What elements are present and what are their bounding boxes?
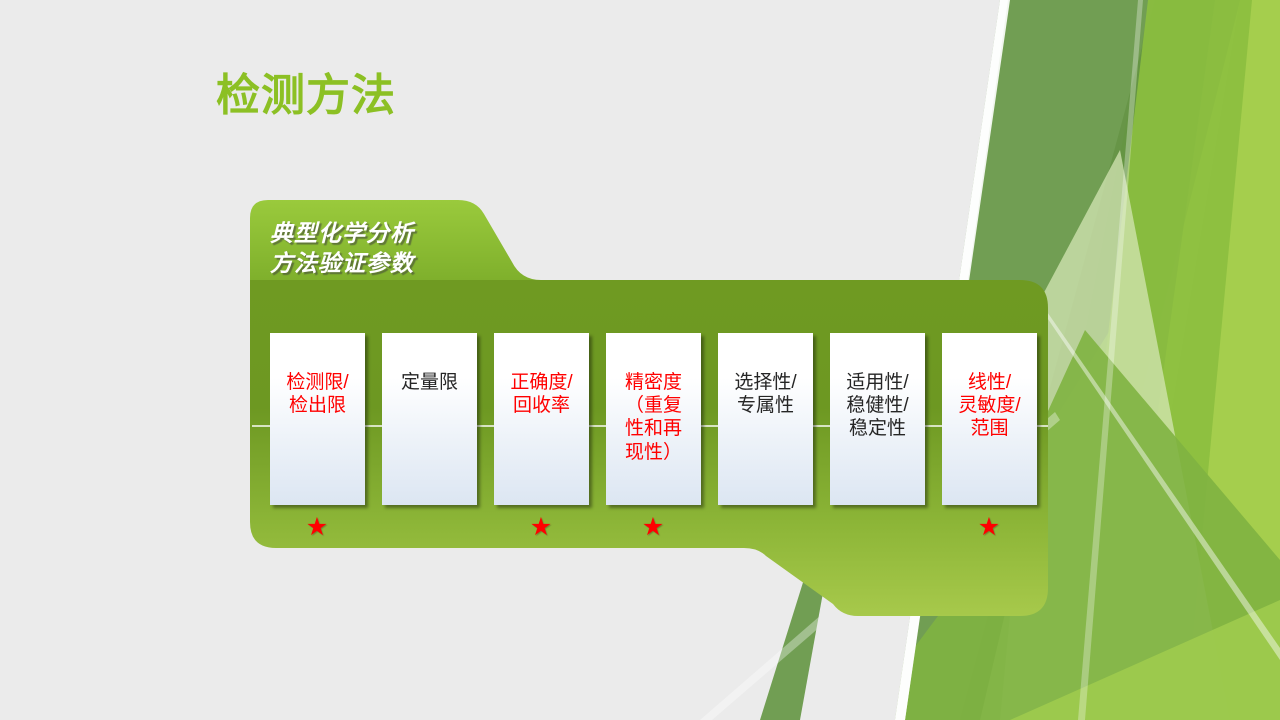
page-title: 检测方法 — [216, 72, 396, 120]
deco-streak-2 — [1078, 0, 1143, 720]
card-label: 精密度 （重复 性和再 现性） — [625, 371, 682, 464]
star-marker-1: ★ — [304, 515, 330, 540]
deco-shape-right-light — [1120, 0, 1280, 720]
star-marker-4: ★ — [640, 515, 666, 540]
card-label: 适用性/ 稳健性/ 稳定性 — [846, 371, 908, 441]
star-marker-3: ★ — [528, 515, 554, 540]
card-item-1[interactable]: 检测限/ 检出限 — [270, 333, 365, 505]
diagram-container: 典型化学分析 方法验证参数 检测限/ 检出限 定量限 正确度/ 回收率 精密度 … — [250, 200, 1050, 620]
card-label: 线性/ 灵敏度/ 范围 — [958, 371, 1020, 441]
slide-canvas: 检测方法 典型化学分析 方法验证参数 — [0, 0, 1280, 720]
card-item-7[interactable]: 线性/ 灵敏度/ 范围 — [942, 333, 1037, 505]
deco-shape-right-wide — [1010, 0, 1280, 720]
card-label: 选择性/ 专属性 — [734, 371, 796, 417]
deco-shape-bright-strip — [1062, 0, 1252, 720]
card-label: 定量限 — [401, 371, 458, 394]
star-marker-7: ★ — [976, 515, 1002, 540]
card-item-5[interactable]: 选择性/ 专属性 — [718, 333, 813, 505]
deco-streak-3 — [1035, 300, 1280, 660]
card-item-3[interactable]: 正确度/ 回收率 — [494, 333, 589, 505]
diagram-header-label: 典型化学分析 方法验证参数 — [270, 218, 520, 279]
card-item-4[interactable]: 精密度 （重复 性和再 现性） — [606, 333, 701, 505]
card-item-2[interactable]: 定量限 — [382, 333, 477, 505]
card-item-6[interactable]: 适用性/ 稳健性/ 稳定性 — [830, 333, 925, 505]
card-row: 检测限/ 检出限 定量限 正确度/ 回收率 精密度 （重复 性和再 现性） 选择… — [270, 333, 1050, 573]
card-label: 正确度/ 回收率 — [510, 371, 572, 417]
deco-shape-bottom-green-2 — [1010, 600, 1280, 720]
card-label: 检测限/ 检出限 — [286, 371, 348, 417]
